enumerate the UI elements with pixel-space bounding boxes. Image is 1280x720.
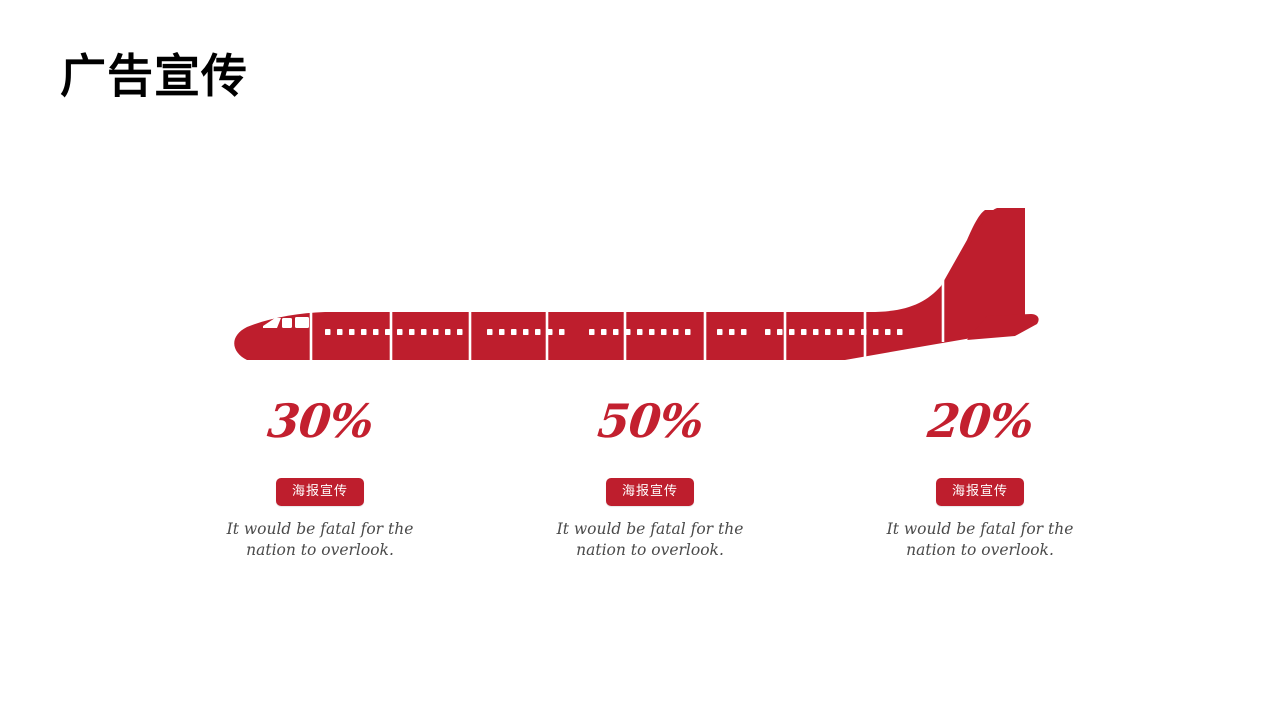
airplane-illustration [225, 200, 1045, 400]
stat-column-1: 30% 海报宣传 It would be fatal for the natio… [170, 398, 470, 560]
stat-percentage-3: 20% [925, 398, 1035, 444]
poster-promotion-button-1[interactable]: 海报宣传 [276, 478, 364, 506]
cockpit-window-mid [282, 318, 292, 328]
cockpit-window-group [263, 317, 309, 328]
passenger-window-group [325, 329, 903, 335]
stat-percentage-1: 30% [265, 398, 375, 444]
stat-caption-3: It would be fatal for the nation to over… [873, 519, 1088, 560]
airplane-body-group [234, 208, 1038, 360]
cockpit-window-rear [295, 317, 309, 328]
stat-percentage-2: 50% [595, 398, 705, 444]
airplane-icon [225, 200, 1045, 400]
stat-column-3: 20% 海报宣传 It would be fatal for the natio… [830, 398, 1130, 560]
stat-caption-2: It would be fatal for the nation to over… [543, 519, 758, 560]
poster-promotion-button-3[interactable]: 海报宣传 [936, 478, 1024, 506]
stat-caption-1: It would be fatal for the nation to over… [218, 519, 423, 560]
stat-column-2: 50% 海报宣传 It would be fatal for the natio… [500, 398, 800, 560]
fuselage-shape [234, 210, 1029, 360]
stat-columns: 30% 海报宣传 It would be fatal for the natio… [170, 398, 1130, 568]
page-title: 广告宣传 [60, 52, 248, 100]
poster-promotion-button-2[interactable]: 海报宣传 [606, 478, 694, 506]
slide-canvas: 广告宣传 [0, 0, 1280, 720]
